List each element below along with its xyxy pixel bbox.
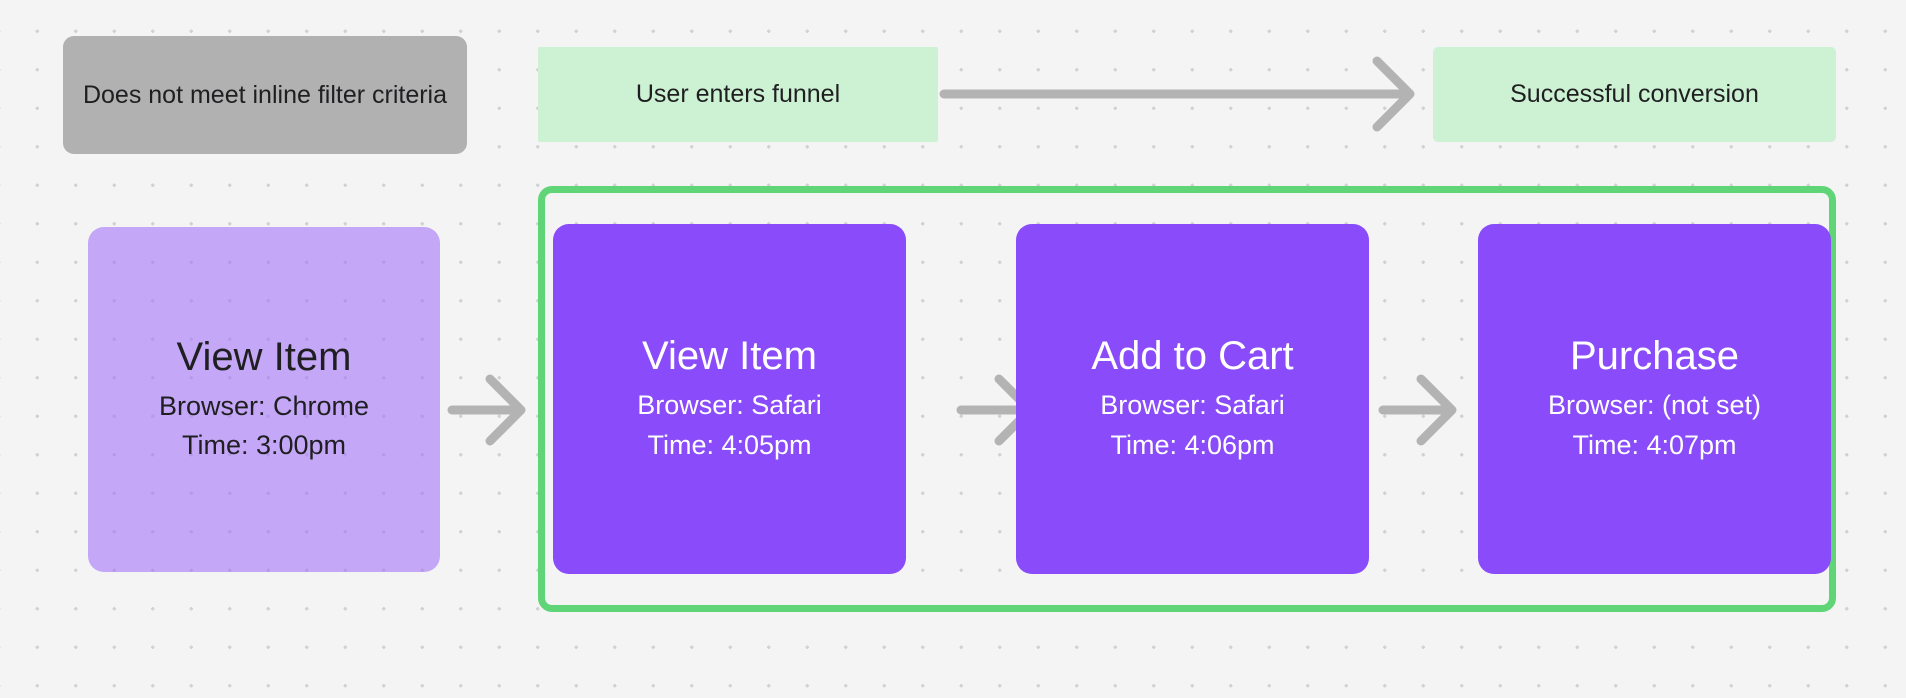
event-card-title: View Item (177, 334, 352, 380)
legend-funnel-entry-box: User enters funnel (538, 47, 938, 142)
event-card-excluded[interactable]: View Item Browser: Chrome Time: 3:00pm (88, 227, 440, 572)
event-card-browser: Browser: Safari (637, 386, 822, 425)
event-card-funnel-2[interactable]: Add to Cart Browser: Safari Time: 4:06pm (1016, 224, 1369, 574)
legend-excluded-box: Does not meet inline filter criteria (63, 36, 467, 154)
event-card-time: Time: 4:05pm (647, 426, 811, 465)
event-card-title: View Item (642, 333, 817, 379)
event-card-title: Purchase (1570, 333, 1739, 379)
event-card-browser: Browser: Safari (1100, 386, 1285, 425)
event-card-title: Add to Cart (1091, 333, 1293, 379)
legend-conversion-box: Successful conversion (1433, 47, 1836, 142)
event-card-browser: Browser: Chrome (159, 387, 369, 426)
event-card-funnel-3[interactable]: Purchase Browser: (not set) Time: 4:07pm (1478, 224, 1831, 574)
legend-excluded-label: Does not meet inline filter criteria (83, 78, 447, 113)
event-card-time: Time: 3:00pm (182, 426, 346, 465)
legend-funnel-entry-label: User enters funnel (636, 80, 840, 109)
event-card-funnel-1[interactable]: View Item Browser: Safari Time: 4:05pm (553, 224, 906, 574)
sequence-arrow-1 (448, 367, 532, 453)
event-card-browser: Browser: (not set) (1548, 386, 1761, 425)
diagram-canvas: Does not meet inline filter criteria Use… (0, 0, 1906, 698)
event-card-time: Time: 4:06pm (1110, 426, 1274, 465)
legend-conversion-label: Successful conversion (1510, 80, 1759, 109)
event-card-time: Time: 4:07pm (1572, 426, 1736, 465)
legend-flow-arrow (940, 50, 1426, 138)
